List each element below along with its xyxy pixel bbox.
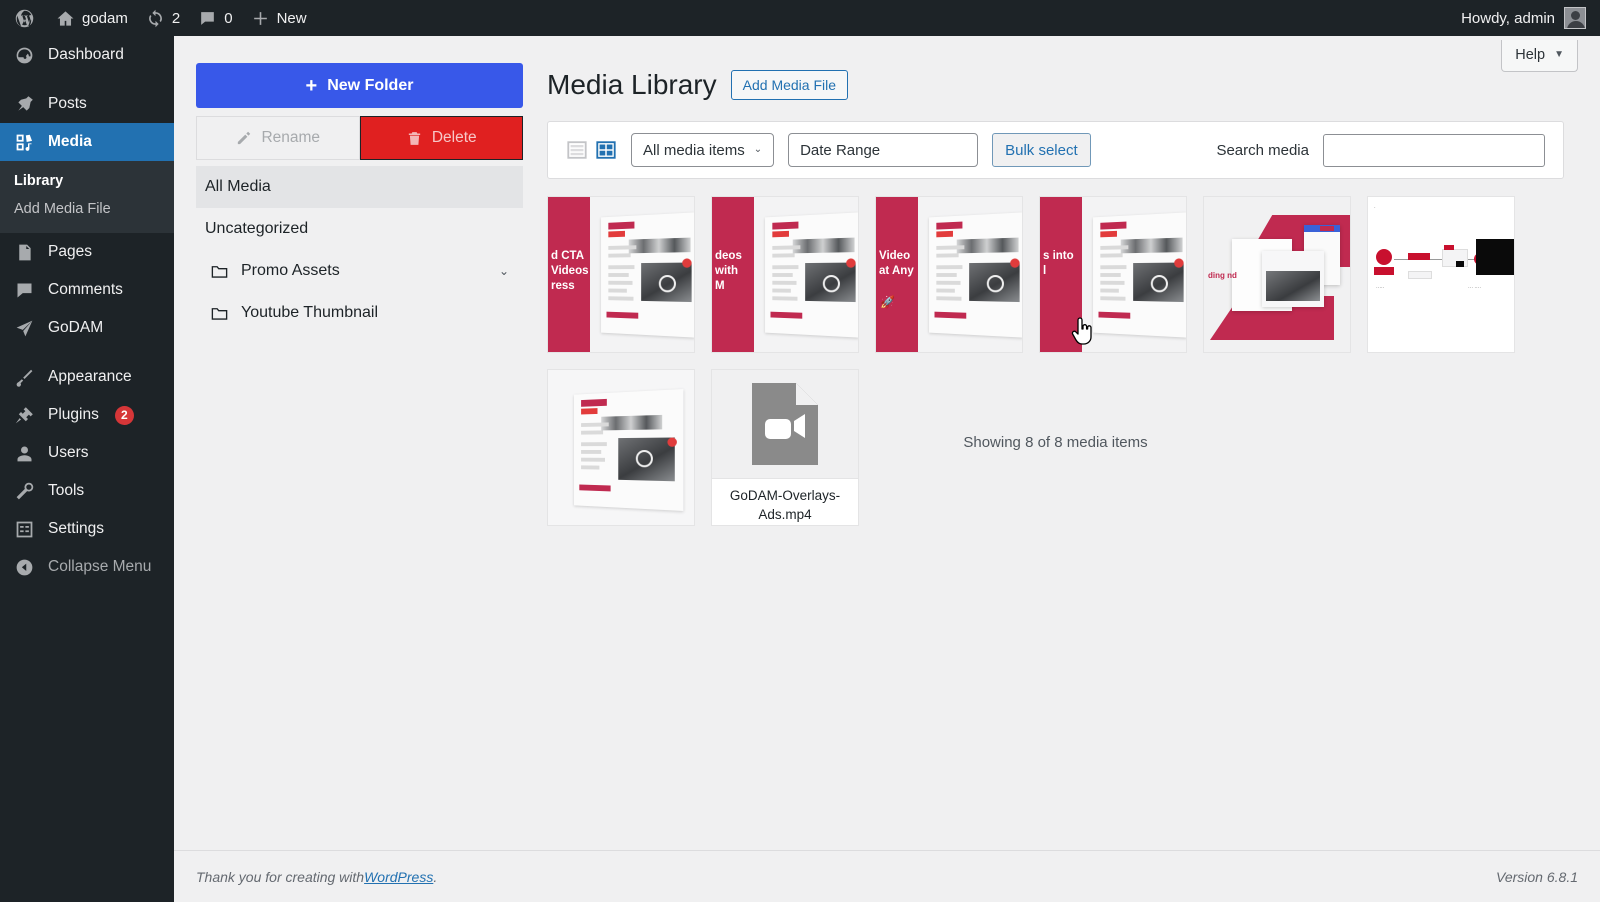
sidebar-item-tools[interactable]: Tools [0, 472, 174, 510]
new-label: New [277, 10, 307, 27]
media-type-value: All media items [643, 142, 745, 159]
sidebar-item-dashboard[interactable]: Dashboard [0, 36, 174, 74]
chevron-down-icon: ▼ [1554, 50, 1564, 60]
collapse-menu-label: Collapse Menu [48, 558, 151, 576]
sidebar-item-settings[interactable]: Settings [0, 510, 174, 548]
sidebar-item-add-media-file[interactable]: Add Media File [0, 195, 174, 223]
thumbnail-screenshot [765, 212, 858, 337]
plugins-update-badge: 2 [115, 406, 134, 425]
folder-row-youtube-thumbnail[interactable]: Youtube Thumbnail [196, 292, 523, 334]
media-item-1[interactable]: d CTA Videos ress [547, 196, 695, 353]
help-toggle-button[interactable]: Help ▼ [1501, 40, 1578, 72]
thumbnail-screenshot [601, 212, 694, 337]
main-content: Help ▼ + New Folder Rename Delete [174, 36, 1600, 902]
pencil-icon [235, 130, 252, 147]
updates-count: 2 [172, 10, 180, 27]
media-toolbar: All media items ⌄ Bulk select Search med… [547, 121, 1564, 179]
search-input[interactable] [1323, 134, 1545, 167]
tools-wrench-icon [14, 481, 35, 502]
chevron-down-icon: ⌄ [754, 145, 762, 155]
rename-label: Rename [261, 129, 320, 147]
trash-icon [406, 130, 423, 147]
thumbnail-text: Video at Any [879, 249, 934, 279]
sidebar-item-appearance[interactable]: Appearance [0, 358, 174, 396]
updates-icon [146, 9, 165, 28]
media-item-5[interactable]: ding nd [1203, 196, 1351, 353]
folder-name: Uncategorized [205, 220, 509, 238]
footer-thanks-suffix: . [433, 869, 437, 885]
folder-row-all-media[interactable]: All Media [196, 166, 523, 208]
new-folder-button[interactable]: + New Folder [196, 63, 523, 108]
thumbnail-screenshot [1093, 212, 1186, 337]
sidebar-item-comments[interactable]: Comments [0, 271, 174, 309]
sidebar-item-library[interactable]: Library [0, 167, 174, 195]
howdy-label: Howdy, admin [1461, 10, 1555, 27]
video-file-icon [752, 383, 818, 465]
my-account-button[interactable]: Howdy, admin [1461, 7, 1600, 29]
sidebar-item-label: Comments [48, 281, 123, 299]
collapse-menu-button[interactable]: Collapse Menu [0, 548, 174, 586]
wp-version-label: Version 6.8.1 [1496, 869, 1578, 885]
delete-folder-button[interactable]: Delete [360, 116, 524, 160]
sidebar-item-godam[interactable]: GoDAM [0, 309, 174, 347]
plugins-plug-icon [14, 405, 35, 426]
sidebar-item-media[interactable]: Media [0, 123, 174, 161]
sidebar-item-label: Plugins [48, 406, 99, 424]
sidebar-gap [0, 74, 174, 85]
sidebar-item-label: Media [48, 133, 92, 151]
dashboard-icon [14, 45, 35, 66]
thumbnail: Video at Any 🚀 [876, 197, 1022, 352]
folder-name: Promo Assets [241, 262, 487, 280]
chevron-down-icon[interactable]: ⌄ [499, 264, 509, 278]
sidebar-item-plugins[interactable]: Plugins 2 [0, 396, 174, 434]
thumbnail-text: ding nd [1208, 271, 1237, 280]
sidebar-item-posts[interactable]: Posts [0, 85, 174, 123]
sidebar-item-label: Appearance [48, 368, 132, 386]
sidebar-item-pages[interactable]: Pages [0, 233, 174, 271]
comment-bubble-icon [198, 9, 217, 28]
sidebar-gap [0, 347, 174, 358]
thumbnail: deos with M [712, 197, 858, 352]
folder-name: All Media [205, 178, 509, 196]
thumbnail-text: d CTA Videos ress [551, 249, 606, 294]
rename-folder-button[interactable]: Rename [196, 116, 360, 160]
media-grid: d CTA Videos ress deos wi [547, 196, 1564, 526]
media-submenu: Library Add Media File [0, 161, 174, 233]
collapse-arrow-icon [14, 557, 35, 578]
media-item-4[interactable]: s into l [1039, 196, 1187, 353]
folder-row-uncategorized[interactable]: Uncategorized [196, 208, 523, 250]
list-view-icon[interactable] [566, 139, 588, 161]
folder-row-promo-assets[interactable]: Promo Assets ⌄ [196, 250, 523, 292]
thumbnail: ding nd [1204, 197, 1350, 352]
search-media-label: Search media [1216, 142, 1309, 159]
pages-icon [14, 242, 35, 263]
thumbnail-screenshot [929, 212, 1022, 337]
plus-icon [251, 9, 270, 28]
admin-footer: Thank you for creating with WordPress. V… [174, 850, 1600, 902]
thumbnail-text: deos with M [715, 249, 770, 294]
thumbnail: s into l [1040, 197, 1186, 352]
new-folder-label: New Folder [327, 77, 413, 95]
users-icon [14, 443, 35, 464]
folder-icon [210, 304, 229, 323]
sidebar-item-label: Settings [48, 520, 104, 538]
updates-button[interactable]: 2 [137, 0, 189, 36]
home-icon [56, 9, 75, 28]
sidebar-item-label: Pages [48, 243, 92, 261]
showing-count-label: Showing 8 of 8 media items [547, 434, 1564, 451]
media-item-6[interactable]: · ····· ··· ···· [1367, 196, 1515, 353]
folder-actions: Rename Delete [196, 116, 523, 160]
wordpress-logo-button[interactable] [0, 0, 47, 36]
pin-icon [14, 94, 35, 115]
media-icon [14, 132, 35, 153]
wordpress-link[interactable]: WordPress [364, 869, 433, 885]
media-item-2[interactable]: deos with M [711, 196, 859, 353]
grid-view-icon[interactable] [595, 139, 617, 161]
help-label: Help [1515, 47, 1545, 63]
page-title: Media Library [547, 69, 717, 101]
folder-name: Youtube Thumbnail [241, 304, 509, 322]
sidebar-item-label: Dashboard [48, 46, 124, 64]
rocket-icon: 🚀 [880, 295, 895, 309]
media-type-select[interactable]: All media items ⌄ [631, 133, 774, 167]
folder-icon [210, 262, 229, 281]
godam-icon [14, 318, 35, 339]
sidebar-item-label: Posts [48, 95, 87, 113]
wordpress-logo-icon [14, 8, 35, 29]
add-media-file-button[interactable]: Add Media File [731, 70, 848, 100]
folder-list: All Media Uncategorized Promo Assets ⌄ Y… [196, 166, 523, 334]
thumbnail: · ····· ··· ···· [1368, 197, 1514, 352]
sidebar-item-label: Users [48, 444, 88, 462]
admin-bar: godam 2 0 New Howdy, admin [0, 0, 1600, 36]
plus-icon: + [306, 76, 318, 96]
new-content-button[interactable]: New [242, 0, 316, 36]
file-icon-wrap [712, 370, 858, 478]
sidebar-item-label: Tools [48, 482, 84, 500]
appearance-brush-icon [14, 367, 35, 388]
admin-sidebar: Dashboard Posts Media Library Add Media … [0, 36, 174, 902]
site-name-label: godam [82, 10, 128, 27]
library-header: Media Library Add Media File [547, 69, 848, 101]
view-mode-toggle [566, 139, 617, 161]
thumbnail: d CTA Videos ress [548, 197, 694, 352]
comments-count: 0 [224, 10, 232, 27]
media-item-3[interactable]: Video at Any 🚀 [875, 196, 1023, 353]
folder-panel: + New Folder Rename Delete All Media [196, 63, 523, 334]
delete-label: Delete [432, 129, 477, 147]
sidebar-item-label: GoDAM [48, 319, 103, 337]
settings-sliders-icon [14, 519, 35, 540]
avatar [1564, 7, 1586, 29]
sidebar-item-users[interactable]: Users [0, 434, 174, 472]
footer-thanks-prefix: Thank you for creating with [196, 869, 364, 885]
comments-icon [14, 280, 35, 301]
file-name-label: GoDAM-Overlays-Ads.mp4 [712, 478, 858, 526]
site-name-button[interactable]: godam [47, 0, 137, 36]
bulk-select-button[interactable]: Bulk select [992, 133, 1091, 167]
comments-button[interactable]: 0 [189, 0, 241, 36]
date-range-input[interactable] [788, 133, 978, 167]
thumbnail-text: s into l [1043, 249, 1098, 279]
